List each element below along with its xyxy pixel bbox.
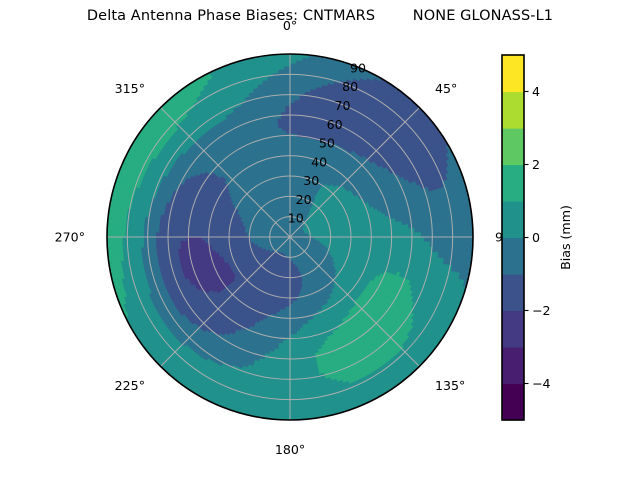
figure-canvas: Delta Antenna Phase Biases: CNTMARS NONE… [0,0,640,480]
polar-contour-plot: 0°45°90135°180°225°270°315° 102030405060… [0,0,640,480]
page-title: Delta Antenna Phase Biases: CNTMARS NONE… [0,8,640,24]
